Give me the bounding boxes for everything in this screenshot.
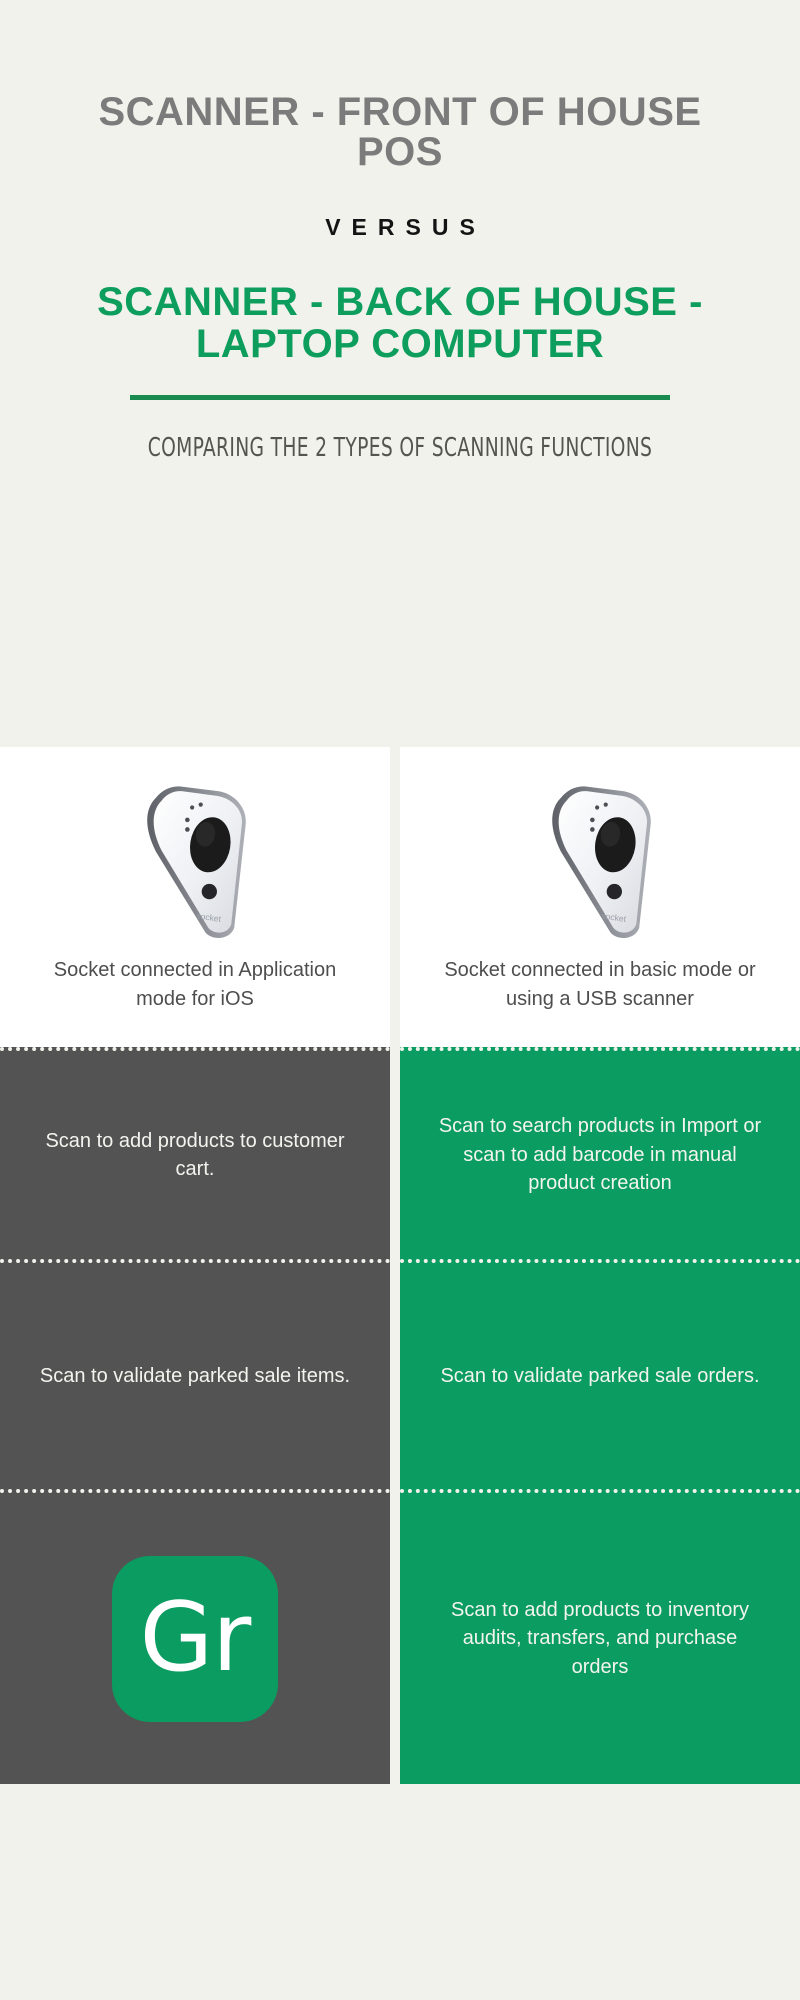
socket-scanner-icon: socket — [110, 775, 280, 942]
footer-space — [0, 1938, 800, 2000]
cell-left-row-3: Gr — [0, 1489, 390, 1784]
page-title-back-of-house: SCANNER - BACK OF HOUSE - LAPTOP COMPUTE… — [60, 241, 740, 365]
card-caption-left: Socket connected in Application mode for… — [34, 956, 356, 1013]
header: SCANNER - FRONT OF HOUSE POS VERSUS SCAN… — [0, 0, 800, 465]
cell-left-row-2-text: Scan to validate parked sale items. — [40, 1362, 350, 1390]
cell-left-row-1: Scan to add products to customer cart. — [0, 1047, 390, 1259]
cell-right-row-1-text: Scan to search products in Import or sca… — [434, 1112, 766, 1197]
page-title-front-of-house: SCANNER - FRONT OF HOUSE POS — [60, 0, 740, 172]
versus-label: VERSUS — [60, 172, 740, 241]
gr-app-icon: Gr — [112, 1556, 278, 1722]
cell-right-row-2: Scan to validate parked sale orders. — [400, 1259, 800, 1489]
column-back-of-house: socket Socket connected in basic mode or… — [400, 747, 800, 1784]
column-front-of-house: socket Socket connected in Application m… — [0, 747, 390, 1784]
infographic-page: SCANNER - FRONT OF HOUSE POS VERSUS SCAN… — [0, 0, 800, 2000]
page-subtitle: COMPARING THE 2 TYPES OF SCANNING FUNCTI… — [128, 400, 672, 465]
card-caption-right: Socket connected in basic mode or using … — [434, 956, 766, 1013]
card-left: socket Socket connected in Application m… — [0, 747, 390, 1047]
cell-right-row-3: Scan to add products to inventory audits… — [400, 1489, 800, 1784]
cell-right-row-1: Scan to search products in Import or sca… — [400, 1047, 800, 1259]
cell-right-row-2-text: Scan to validate parked sale orders. — [440, 1362, 759, 1390]
cell-right-row-3-text: Scan to add products to inventory audits… — [434, 1596, 766, 1681]
cell-left-row-1-text: Scan to add products to customer cart. — [34, 1127, 356, 1184]
cell-left-row-2: Scan to validate parked sale items. — [0, 1259, 390, 1489]
column-gap — [390, 747, 400, 1784]
gr-app-icon-label: Gr — [140, 1591, 251, 1686]
card-right: socket Socket connected in basic mode or… — [400, 747, 800, 1047]
comparison-grid: socket Socket connected in Application m… — [0, 747, 800, 1784]
socket-scanner-icon: socket — [515, 775, 685, 942]
divider-wrap — [60, 365, 740, 400]
